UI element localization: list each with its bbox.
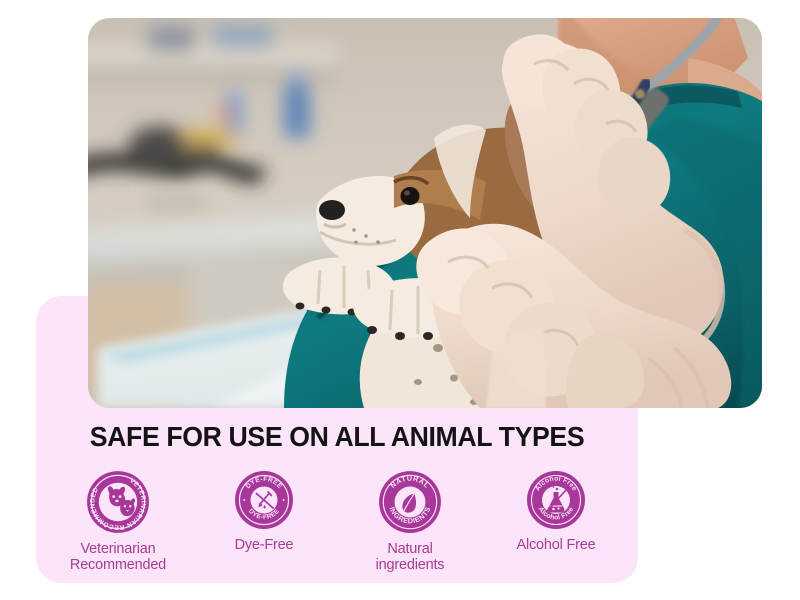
badge-label: Veterinarian Recommended — [52, 541, 184, 574]
badge-label-line2: ingredients — [376, 557, 445, 573]
leaf-icon: NATURAL INGREDIENTS — [378, 470, 442, 534]
badge-label-line1: Natural — [387, 541, 432, 557]
page-title: SAFE FOR USE ON ALL ANIMAL TYPES — [45, 421, 629, 453]
badge-alcohol-free: Alcohol Free Alcohol Free — [496, 470, 616, 553]
badge-natural-ingredients: NATURAL INGREDIENTS Natural ingredients — [350, 470, 470, 574]
badge-label-line1: Dye-Free — [235, 537, 294, 553]
badge-label: Dye-Free — [235, 537, 294, 553]
badge-label-line2: Recommended — [70, 557, 166, 573]
veterinarian-with-puppy-photo — [88, 18, 762, 408]
dog-and-cat-icon: VETERINARIAN RECOMMENDED — [86, 470, 150, 534]
badge-label-line1: Alcohol Free — [517, 537, 596, 553]
crossed-out-dropper-icon: DYE-FREE DYE-FREE — [234, 470, 294, 530]
promo-banner: SAFE FOR USE ON ALL ANIMAL TYPES VETERIN… — [0, 0, 800, 600]
badge-label: Alcohol Free — [517, 537, 596, 553]
badge-dye-free: DYE-FREE DYE-FREE — [204, 470, 324, 553]
badge-label: Natural ingredients — [344, 541, 476, 574]
trust-badge-row: VETERINARIAN RECOMMENDED Ve — [36, 470, 638, 574]
crossed-out-flask-icon: Alcohol Free Alcohol Free — [526, 470, 586, 530]
badge-veterinarian-recommended: VETERINARIAN RECOMMENDED Ve — [58, 470, 178, 574]
badge-label-line1: Veterinarian — [81, 541, 156, 557]
photo-illustration — [88, 18, 762, 408]
